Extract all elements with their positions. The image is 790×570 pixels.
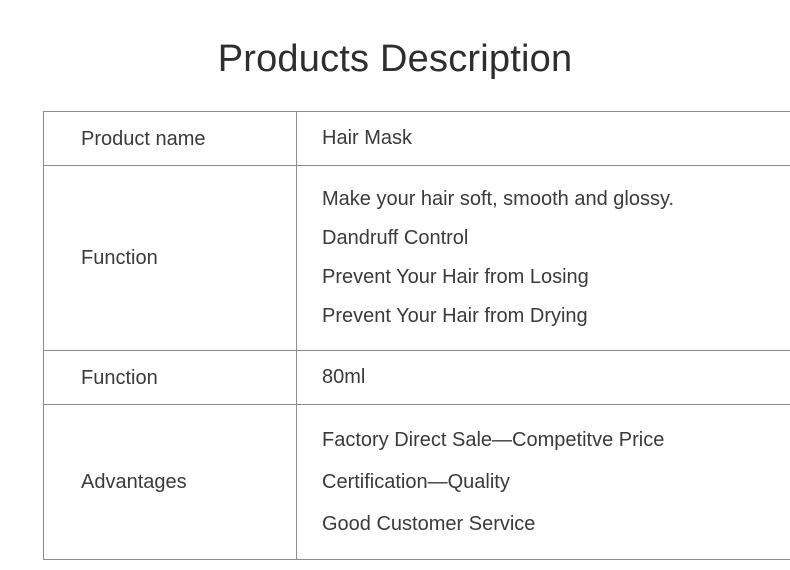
value-line: 80ml	[322, 358, 790, 397]
table-row: Advantages Factory Direct Sale—Competitv…	[44, 405, 790, 560]
row-label-cell: Function	[44, 166, 297, 351]
value-line: Dandruff Control	[322, 219, 790, 258]
product-specification-table: Product name Hair Mask Function Make you…	[43, 111, 790, 560]
value-line: Prevent Your Hair from Drying	[322, 297, 790, 336]
table-row: Function Make your hair soft, smooth and…	[44, 166, 790, 351]
value-line-list: Factory Direct Sale—Competitve Price Cer…	[322, 419, 790, 545]
row-value-cell: Factory Direct Sale—Competitve Price Cer…	[297, 405, 790, 560]
page-title: Products Description	[0, 36, 790, 82]
value-line-list: Make your hair soft, smooth and glossy. …	[322, 180, 790, 336]
row-value-cell: Hair Mask	[297, 112, 790, 166]
row-label-cell: Function	[44, 351, 297, 405]
row-value-cell: Make your hair soft, smooth and glossy. …	[297, 166, 790, 351]
value-line: Prevent Your Hair from Losing	[322, 258, 790, 297]
row-label-cell: Advantages	[44, 405, 297, 560]
row-label-cell: Product name	[44, 112, 297, 166]
table-body: Product name Hair Mask Function Make you…	[44, 112, 790, 560]
table-row: Function 80ml	[44, 351, 790, 405]
value-line: Make your hair soft, smooth and glossy.	[322, 180, 790, 219]
value-line-list: 80ml	[322, 358, 790, 397]
value-line: Good Customer Service	[322, 503, 790, 545]
value-line: Hair Mask	[322, 119, 790, 158]
row-value-cell: 80ml	[297, 351, 790, 405]
products-description-page: Products Description Product name Hair M…	[0, 0, 790, 570]
value-line-list: Hair Mask	[322, 119, 790, 158]
table-row: Product name Hair Mask	[44, 112, 790, 166]
value-line: Certification—Quality	[322, 461, 790, 503]
value-line: Factory Direct Sale—Competitve Price	[322, 419, 790, 461]
